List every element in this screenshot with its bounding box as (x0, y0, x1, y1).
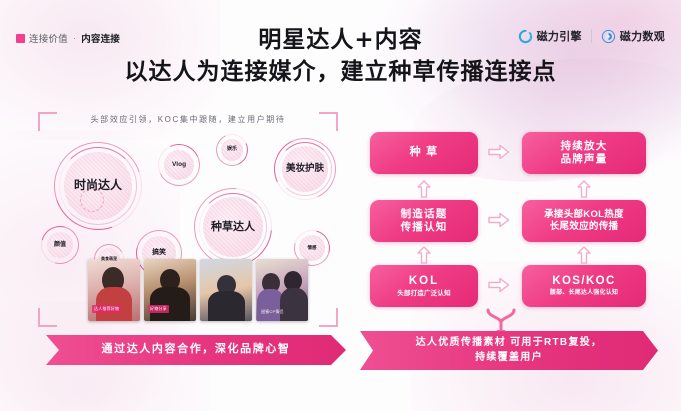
bubble-label: 时尚达人 (74, 179, 122, 192)
flow-node-title-l1: 持续放大 (561, 140, 608, 153)
arrow-right-icon (488, 212, 510, 228)
bubble-appearance: 颜值 (41, 226, 79, 264)
video-caption: 甜蜜CP情侣 (261, 309, 284, 315)
arrow-right-icon (488, 277, 510, 293)
bubble-label: 情感 (308, 245, 317, 250)
flow-node-title-l1: 制造话题 (401, 208, 448, 221)
bubble-label: 娱乐 (227, 147, 237, 153)
flow-node-kol: KOL 头部打造广泛认知 (370, 265, 478, 307)
bubble-cloud-caption: 头部效应引领，KOC集中跟随，建立用户期待 (38, 114, 338, 125)
flow-node-title-l2: 品牌声量 (561, 153, 608, 166)
logo-divider (591, 29, 592, 43)
flow-node-amplify-brand: 持续放大 品牌声量 (522, 132, 646, 174)
flow-node-seeding: 种 草 (370, 132, 478, 174)
logo-label-ciliyinqing: 磁力引擎 (537, 28, 582, 44)
video-thumbnail[interactable]: 甜蜜CP情侣 (256, 259, 308, 321)
slide-canvas: 连接价值 · 内容连接 磁力引擎 磁力数观 明星达人+内容 (0, 0, 681, 411)
arrow-up-icon (577, 180, 591, 198)
ribbon-left-text: 通过达人内容合作，深化品牌心智 (102, 342, 291, 358)
bubble-label: Vlog (172, 161, 186, 168)
flow-node-subtitle: 腰部、长尾达人强化认知 (550, 290, 618, 298)
logo-ciliyinqing: 磁力引擎 (518, 28, 582, 44)
bubble-beauty-skincare: 美妆护肤 (274, 138, 336, 200)
flow-node-title-l1: 承接头部KOL热度 (544, 209, 624, 221)
eyebrow-square-icon (16, 34, 25, 43)
ribbon-right-line1: 达人优质传播素材 可用于RTB复投， (416, 336, 603, 351)
video-thumbnail-strip: 达人推荐好物 好物分享 甜蜜CP情侣 (88, 259, 308, 321)
flow-node-title-l2: 长尾效应的传播 (550, 221, 619, 233)
flow-node-create-topic: 制造话题 传播认知 (370, 200, 478, 242)
ribbon-left: 通过达人内容合作，深化品牌心智 (46, 335, 346, 365)
flow-node-kos-koc: KOS/KOC 腰部、长尾达人强化认知 (522, 265, 646, 307)
bubble-fashion-influencer: 时尚达人 (54, 142, 142, 230)
video-thumbnail[interactable]: 好物分享 (144, 259, 196, 321)
video-caption: 达人推荐好物 (92, 305, 121, 313)
flow-node-title: KOS/KOC (552, 274, 615, 288)
bubble-label: 种草达人 (211, 221, 255, 233)
flow-node-longtail: 承接头部KOL热度 长尾效应的传播 (522, 200, 646, 242)
flow-node-title: KOL (409, 274, 439, 288)
logo-label-cilishuguan: 磁力数观 (620, 28, 665, 44)
video-caption: 好物分享 (148, 305, 169, 313)
slide-title-line2: 以达人为连接媒介，建立种草传播连接点 (0, 59, 681, 85)
frame-corner-bottom-left (38, 308, 57, 327)
flow-node-subtitle: 头部打造广泛认知 (397, 290, 451, 298)
bubble-label-text: 种草达人 (211, 221, 255, 233)
eyebrow-label-bold: 内容连接 (81, 31, 120, 45)
arrow-up-icon (577, 246, 591, 264)
strategy-flowchart: 种 草 持续放大 品牌声量 制造话题 传播认知 承接头部KOL热度 长 (370, 132, 655, 317)
frame-corner-bottom-right (319, 308, 338, 327)
bubble-label: 颜值 (54, 242, 66, 249)
flow-node-title: 种 草 (410, 146, 439, 160)
ribbon-right-text: 达人优质传播素材 可用于RTB复投， 持续覆盖用户 (416, 336, 603, 365)
logo-cilishuguan: 磁力数观 (601, 28, 665, 44)
bubble-label: 美妆护肤 (286, 164, 324, 175)
arrow-right-icon (488, 144, 510, 160)
bubble-seeding-influencer: 种草达人 (194, 188, 272, 266)
bubble-vlog: Vlog (158, 144, 200, 186)
bubble-entertainment: 娱乐 (216, 134, 248, 166)
kuaishou-engine-icon (518, 29, 533, 44)
ribbon-right: 达人优质传播素材 可用于RTB复投， 持续覆盖用户 (360, 331, 658, 370)
bubble-label: 搞笑 (152, 249, 166, 257)
kuaishou-data-icon (601, 29, 616, 44)
eyebrow-separator: · (73, 33, 76, 44)
bubble-label: 美食萌宠 (101, 257, 117, 261)
ribbon-right-line2: 持续覆盖用户 (416, 351, 603, 366)
flow-node-title-l2: 传播认知 (401, 221, 448, 234)
arrow-up-icon (417, 180, 431, 198)
logo-group: 磁力引擎 磁力数观 (518, 28, 665, 44)
video-thumbnail[interactable] (200, 259, 252, 321)
eyebrow-label-light: 连接价值 (29, 31, 68, 45)
arrow-up-icon (417, 246, 431, 264)
section-eyebrow: 连接价值 · 内容连接 (16, 31, 120, 45)
video-thumbnail[interactable]: 达人推荐好物 (88, 259, 140, 321)
